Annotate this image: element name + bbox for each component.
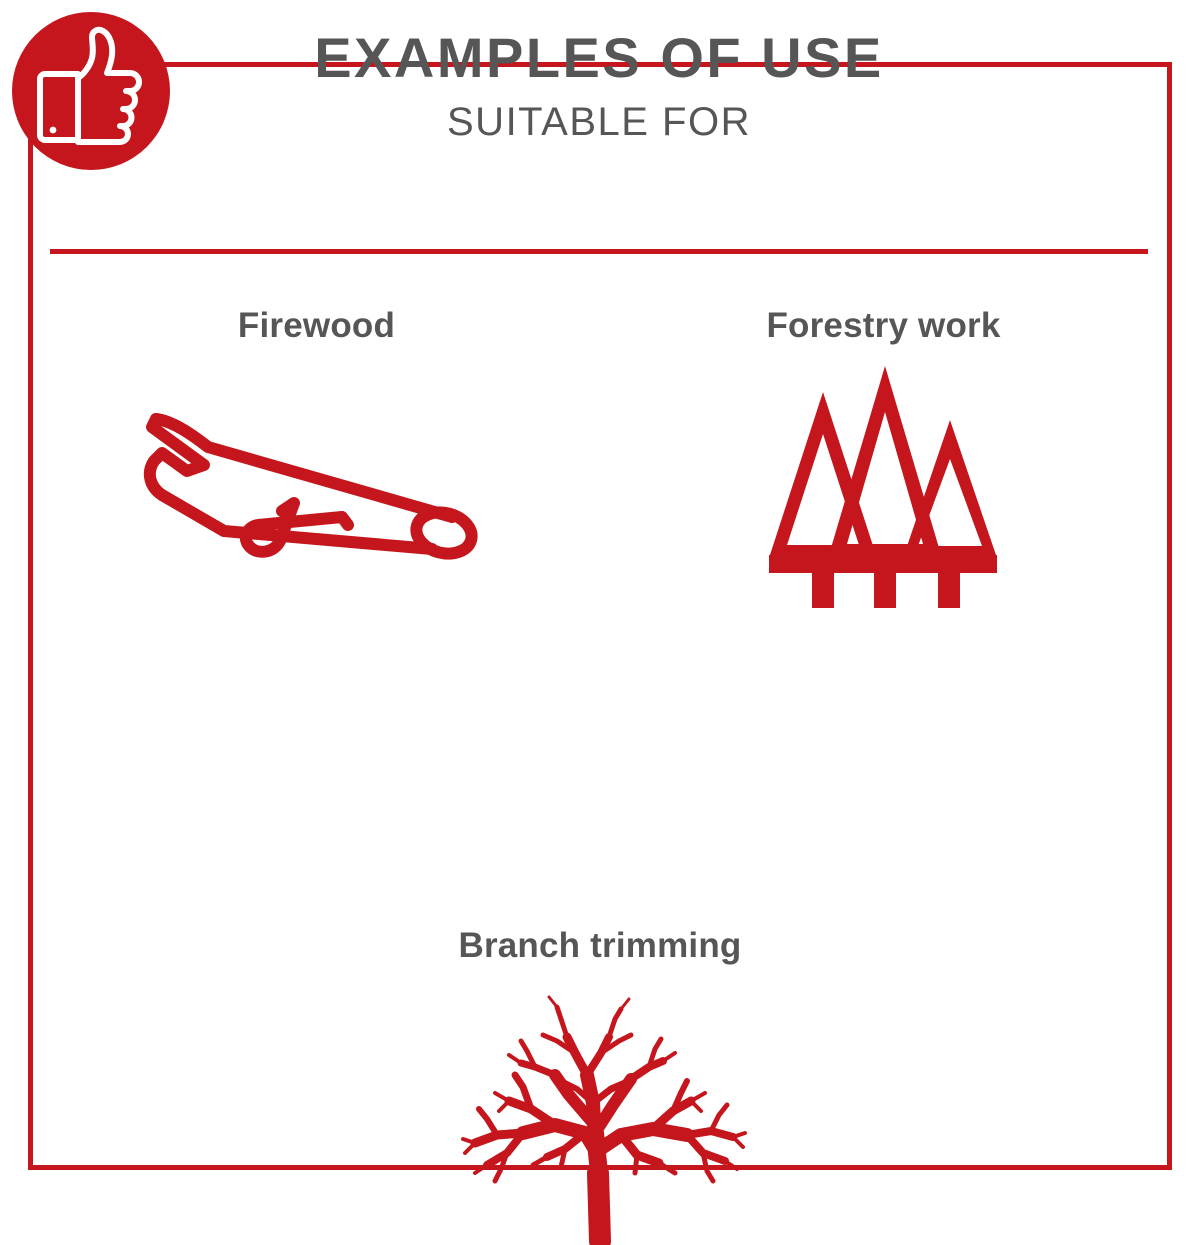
- examples-of-use-infographic: EXAMPLES OF USE SUITABLE FOR Firewood: [0, 0, 1200, 1200]
- log-branch-icon: [132, 391, 502, 571]
- example-icon-wrap-branch-trimming: [317, 984, 884, 1244]
- example-item-forestry: Forestry work: [600, 254, 1167, 694]
- example-icon-wrap-firewood: [33, 376, 600, 586]
- example-icon-wrap-forestry: [600, 358, 1167, 608]
- thumbs-up-icon: [12, 12, 170, 170]
- bare-deciduous-tree-icon: [435, 983, 765, 1245]
- page-title: EXAMPLES OF USE: [50, 30, 1148, 86]
- examples-grid: Firewood: [33, 254, 1167, 1165]
- thumbs-up-badge: [12, 12, 170, 170]
- example-label-firewood: Firewood: [238, 306, 395, 346]
- examples-row-bottom: Branch trimming: [33, 694, 1167, 1144]
- header: EXAMPLES OF USE SUITABLE FOR: [50, 30, 1148, 142]
- example-label-branch-trimming: Branch trimming: [458, 926, 741, 966]
- example-item-branch-trimming: Branch trimming: [317, 694, 884, 1144]
- example-item-firewood: Firewood: [33, 254, 600, 694]
- examples-row-top: Firewood: [33, 254, 1167, 694]
- conifer-trees-icon: [766, 358, 1001, 608]
- example-label-forestry: Forestry work: [766, 306, 1000, 346]
- page-subtitle: SUITABLE FOR: [50, 102, 1148, 142]
